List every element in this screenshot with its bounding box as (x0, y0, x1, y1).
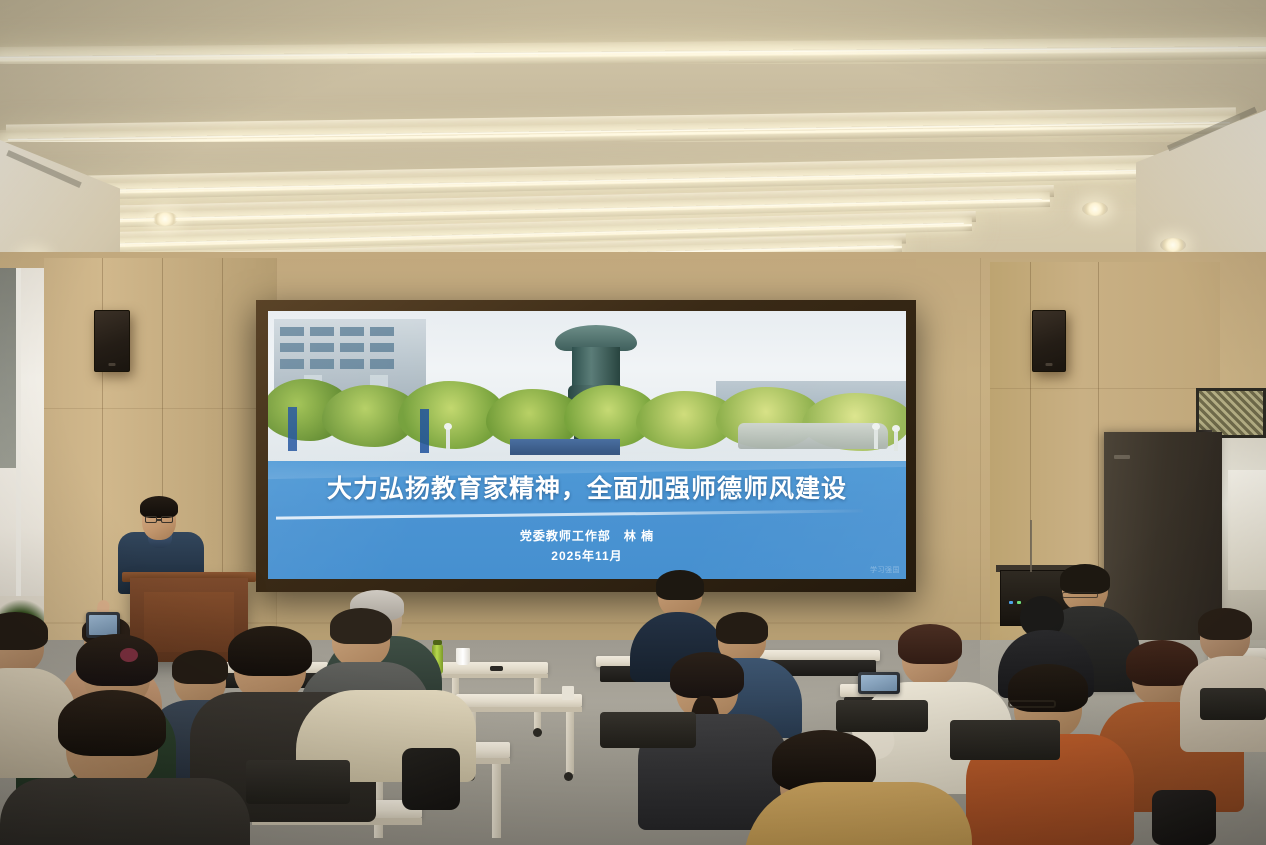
downlight-icon (1160, 238, 1186, 252)
lectern-front-panel (144, 592, 234, 652)
wall-seam (980, 258, 981, 658)
downlight-icon (1082, 202, 1108, 216)
street-lamp (446, 427, 450, 449)
downlight-icon (152, 212, 178, 226)
eyeglasses-icon (145, 516, 157, 523)
smartphone-on-desk (490, 666, 503, 671)
backpack (402, 748, 460, 810)
slide-watermark: 学习强国 (870, 565, 900, 575)
antenna-rod (1030, 520, 1032, 572)
eyeglasses-icon (1008, 700, 1056, 708)
slide-title: 大力弘扬教育家精神，全面加强师德师风建设 (268, 469, 906, 505)
lecture-hall-photo: 大力弘扬教育家精神，全面加强师德师风建设 党委教师工作部 林 楠 2025年11… (0, 0, 1266, 845)
slide-divider (276, 509, 863, 519)
corridor-beyond (1228, 470, 1266, 590)
led-presentation-screen[interactable]: 大力弘扬教育家精神，全面加强师德师风建设 党委教师工作部 林 楠 2025年11… (268, 311, 906, 579)
bottle-cap (433, 640, 442, 645)
chair-back (950, 720, 1060, 760)
chair-back (836, 700, 928, 732)
presenter-hair (140, 496, 178, 518)
chair-back (600, 712, 696, 748)
wall-speaker-right (1032, 310, 1066, 372)
hair-clip (120, 648, 138, 662)
campus-banner (288, 407, 297, 451)
backpack (1152, 790, 1216, 845)
chair-back (1200, 688, 1266, 720)
wall-speaker-left (94, 310, 130, 372)
wall-outlet (562, 686, 574, 700)
slide-date: 2025年11月 (268, 547, 906, 564)
eyeglasses-bridge (157, 519, 161, 521)
slide-presenter: 党委教师工作部 林 楠 (268, 527, 906, 544)
window-mullion (16, 268, 21, 638)
eyeglasses-icon (161, 516, 173, 523)
campus-banner (420, 409, 429, 453)
slide-photo (268, 311, 906, 463)
slide-body: 大力弘扬教育家精神，全面加强师德师风建设 党委教师工作部 林 楠 2025年11… (268, 461, 906, 579)
eyeglasses-icon (1062, 592, 1098, 598)
paper-cup (456, 648, 470, 665)
chair-back (246, 760, 350, 804)
door-handle[interactable] (1114, 455, 1130, 459)
smartphone-raised (858, 672, 900, 694)
